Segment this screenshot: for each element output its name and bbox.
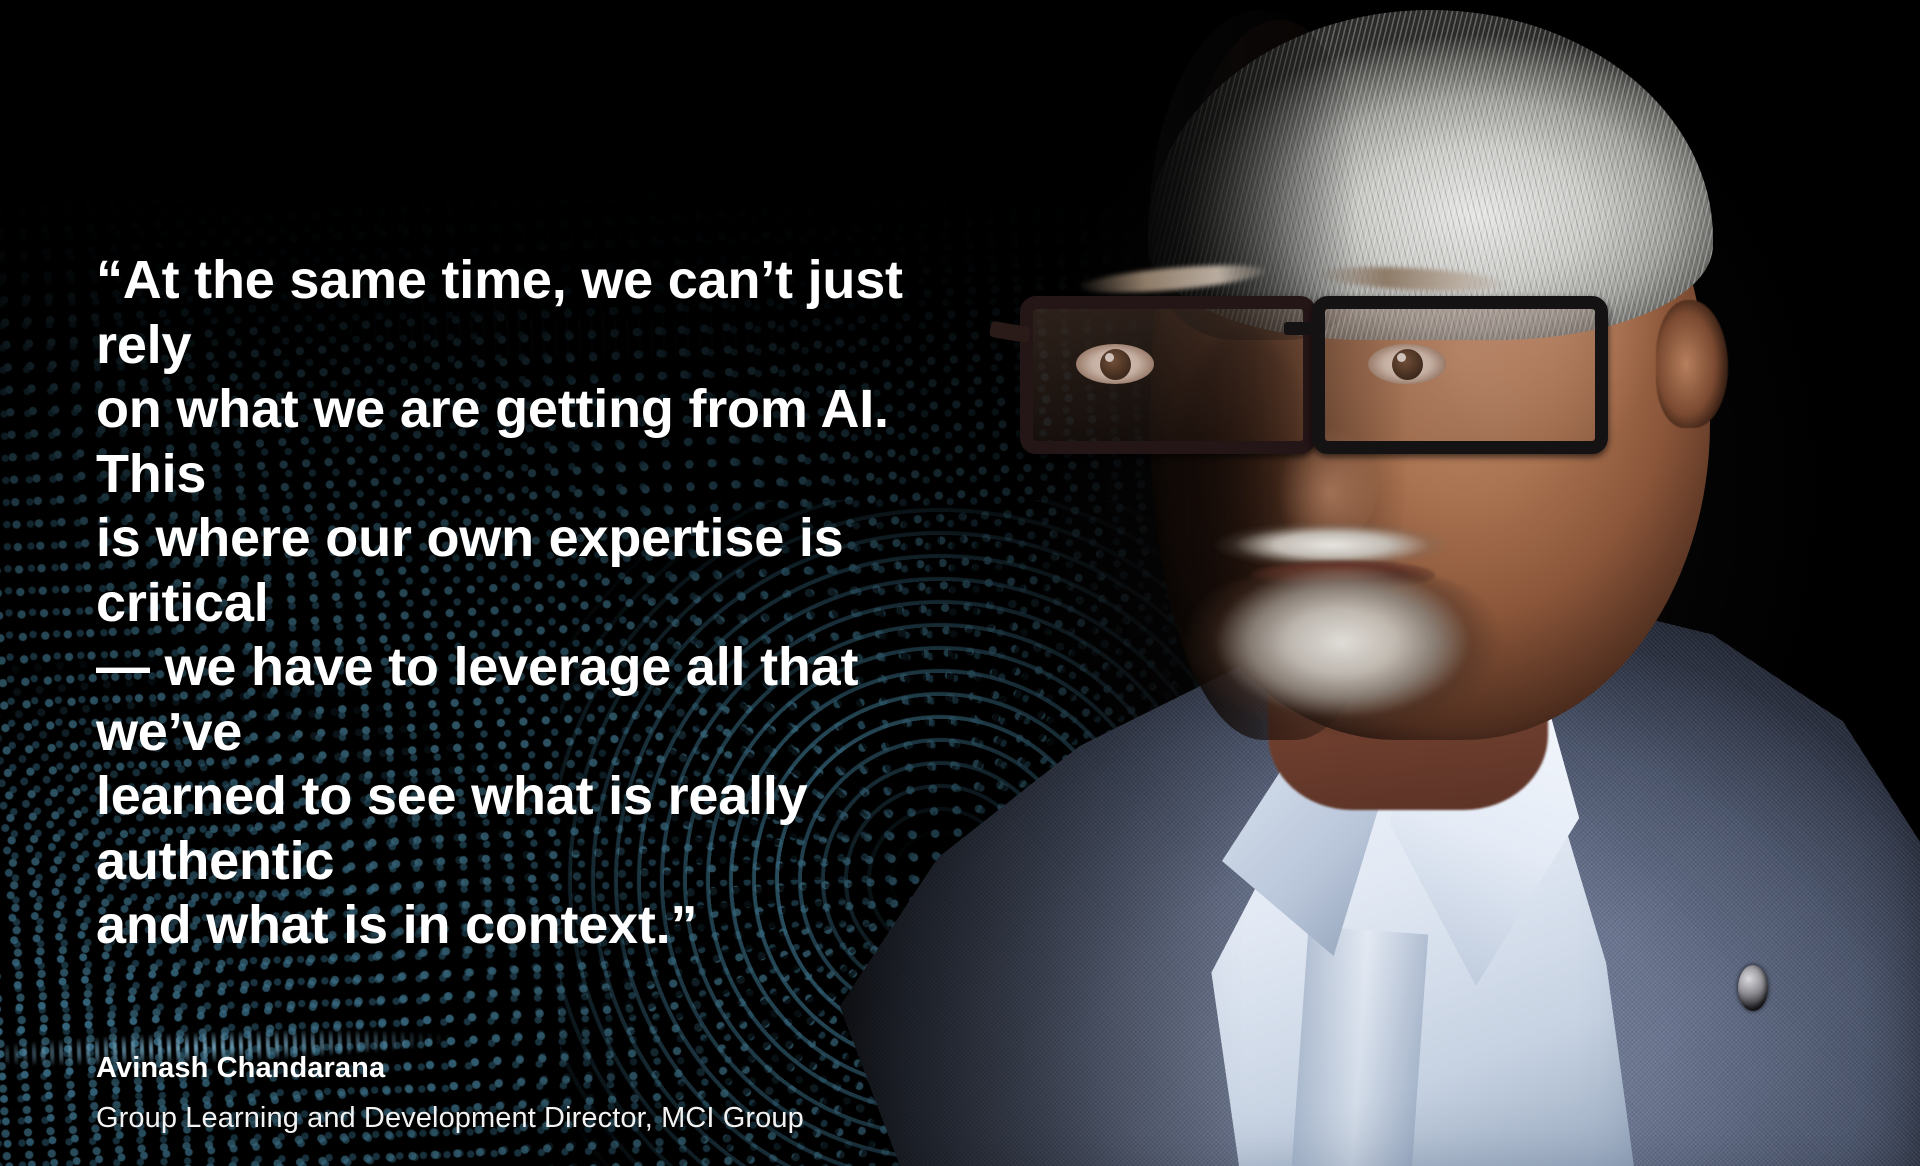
attribution-name: Avinash Chandarana: [96, 1050, 976, 1086]
quote-content: “At the same time, we can’t just rely on…: [96, 248, 976, 1136]
attribution-title: Group Learning and Development Director,…: [96, 1100, 976, 1136]
quote-text: “At the same time, we can’t just rely on…: [96, 248, 976, 958]
attribution: Avinash Chandarana Group Learning and De…: [96, 1050, 976, 1136]
quote-slide: “At the same time, we can’t just rely on…: [0, 0, 1920, 1166]
